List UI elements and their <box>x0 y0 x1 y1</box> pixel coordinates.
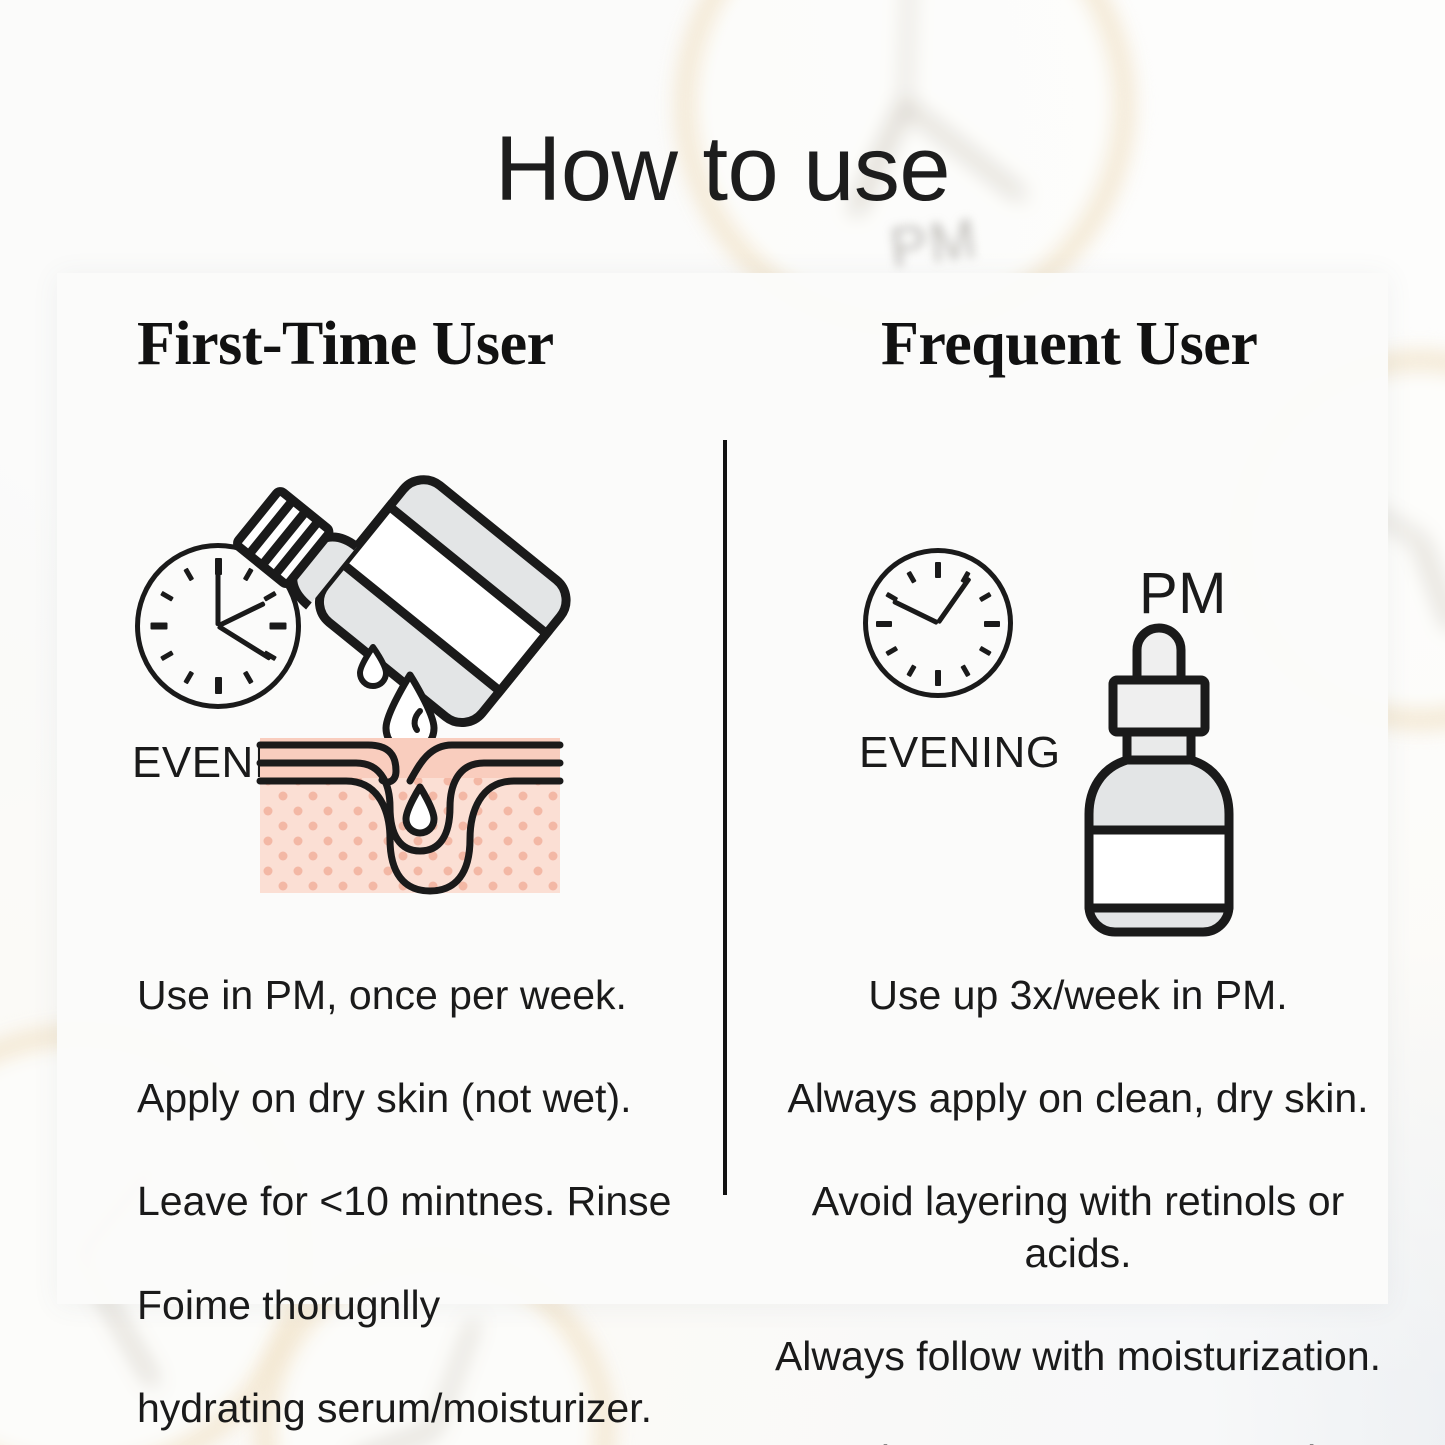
instruction-line: ↔ Always wear sunscreen the <box>773 1435 1383 1445</box>
instructions-frequent-user: Use up 3x/week in PM. Always apply on cl… <box>773 918 1383 1445</box>
infographic-canvas: PM How to use First-Time User <box>0 0 1445 1445</box>
instruction-line: Foime thorugnlly <box>137 1280 697 1332</box>
clock-tick <box>935 670 941 686</box>
column-first-time-user: First-Time User <box>57 273 723 1304</box>
background-clock-hand <box>904 0 913 105</box>
clock-tick <box>978 592 991 602</box>
clock-hour-hand <box>217 624 272 661</box>
instruction-line: Always follow with moisturization. <box>773 1331 1383 1383</box>
clock-tick <box>906 664 916 677</box>
column-heading-first-time-user: First-Time User <box>137 313 554 375</box>
pm-label: PM <box>1139 560 1227 627</box>
clock-second-hand <box>217 601 266 628</box>
clock-hour-hand <box>892 599 939 625</box>
clock-tick <box>242 671 253 685</box>
clock-tick <box>242 568 253 582</box>
icon-group-first-time-user: EVENING <box>135 428 655 888</box>
clock-icon <box>863 548 1013 698</box>
instruction-line: Leave for <10 mintnes. Rinse <box>137 1176 697 1228</box>
clock-tick <box>183 671 194 685</box>
page-title: How to use <box>0 123 1445 215</box>
clock-tick <box>935 562 941 578</box>
clock-minute-hand <box>216 568 221 626</box>
clock-tick <box>885 646 898 656</box>
instruction-line: Use up 3x/week in PM. <box>773 970 1383 1022</box>
content-card: First-Time User <box>57 273 1388 1304</box>
instruction-line: hydrating serum/moisturizer. <box>137 1383 697 1435</box>
clock-minute-hand <box>936 577 972 625</box>
instruction-line: Avoid layering with retinols or acids. <box>773 1176 1383 1279</box>
column-frequent-user: Frequent User <box>723 273 1388 1304</box>
icon-group-frequent-user: EVENING PM <box>863 443 1343 893</box>
clock-tick <box>183 568 194 582</box>
clock-tick <box>160 591 174 602</box>
clock-tick <box>906 571 916 584</box>
clock-tick <box>876 621 892 627</box>
clock-tick <box>150 623 167 630</box>
evening-label-right: EVENING <box>859 728 1061 778</box>
background-clock-hand <box>1418 539 1445 630</box>
clock-tick <box>960 664 970 677</box>
skin-pore-cross-section-icon <box>260 683 560 893</box>
instruction-line: Apply on dry skin (not wet). <box>137 1073 697 1125</box>
squeeze-bottle-icon <box>270 418 610 718</box>
dropper-bottle-icon <box>1075 618 1243 938</box>
clock-tick <box>160 650 174 661</box>
instruction-line: Use in PM, once per week. <box>137 970 697 1022</box>
clock-tick <box>978 646 991 656</box>
column-heading-frequent-user: Frequent User <box>881 313 1257 375</box>
instruction-line: Always apply on clean, dry skin. <box>773 1073 1383 1125</box>
clock-tick <box>215 677 222 694</box>
instructions-first-time-user: Use in PM, once per week. Apply on dry s… <box>137 918 697 1445</box>
clock-tick <box>984 621 1000 627</box>
droplet-icon <box>356 643 390 687</box>
